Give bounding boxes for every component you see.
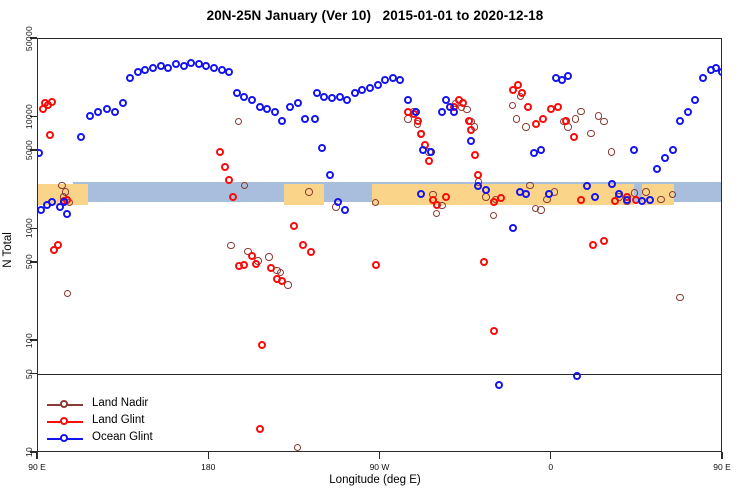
y-tick-label: 10000 — [24, 104, 34, 129]
legend-label-land-nadir: Land Nadir — [92, 397, 148, 409]
x-tick-mark — [379, 452, 380, 459]
y-tick-label: 5000 — [24, 140, 34, 160]
y-tick-label: 50 — [24, 369, 34, 379]
legend-marker-land-glint — [60, 417, 68, 425]
plot-frame — [37, 38, 722, 452]
legend-label-ocean-glint: Ocean Glint — [92, 431, 153, 443]
y-tick-label: 10 — [24, 447, 34, 457]
chart-root: 20N-25N January (Ver 10) 2015-01-01 to 2… — [0, 0, 750, 500]
y-tick-label: 500 — [24, 254, 34, 269]
x-tick-label: 90 E — [713, 462, 731, 472]
legend-marker-land-nadir — [60, 400, 68, 408]
y-tick-label: 100 — [24, 333, 34, 348]
x-tick-mark — [36, 452, 37, 459]
y-axis-label: N Total — [2, 232, 14, 268]
page-title: 20N-25N January (Ver 10) 2015-01-01 to 2… — [0, 8, 750, 23]
x-tick-label: 90 W — [370, 462, 390, 472]
x-axis-label: Longitude (deg E) — [0, 474, 750, 486]
y-tick-label: 50000 — [24, 26, 34, 51]
x-tick-mark — [721, 452, 722, 459]
x-tick-label: 0 — [548, 462, 553, 472]
x-tick-mark — [550, 452, 551, 459]
x-tick-label: 90 E — [28, 462, 46, 472]
x-tick-mark — [208, 452, 209, 459]
y-tick-label: 1000 — [24, 218, 34, 238]
legend-label-land-glint: Land Glint — [92, 414, 144, 426]
x-tick-label: 180 — [201, 462, 215, 472]
legend-marker-ocean-glint — [60, 434, 68, 442]
